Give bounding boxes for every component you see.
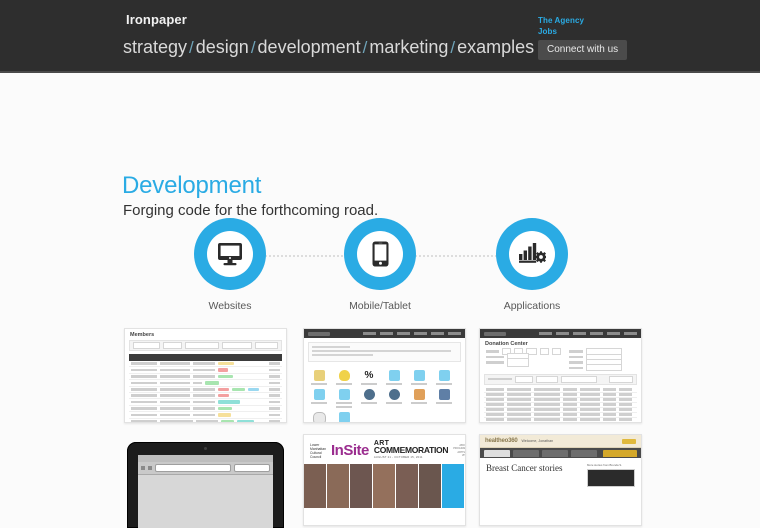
site-header: Ironpaper strategy/design/development/ma… — [0, 0, 760, 73]
service-item-mobile-tablet[interactable]: Mobile/Tablet — [325, 218, 435, 312]
smartphone-icon — [372, 241, 389, 267]
nav-item-development[interactable]: development — [258, 37, 361, 57]
back-arrow-icon[interactable] — [141, 466, 145, 470]
lmcc-logo: Lower Manhattan Cultural Council — [310, 443, 326, 459]
service-label: Applications — [477, 300, 587, 312]
thumbnail-insite-art-commemoration-site[interactable]: Lower Manhattan Cultural Council InSite … — [303, 434, 466, 526]
thumb-logo-pill — [308, 332, 330, 336]
signup-button[interactable] — [622, 439, 636, 444]
nav-tab-activity[interactable] — [484, 450, 510, 457]
forward-arrow-icon[interactable] — [148, 466, 152, 470]
healtheo360-heading: Breast Cancer stories — [486, 463, 562, 487]
thumb-logo-pill — [484, 332, 506, 336]
main-navigation: strategy/design/development/marketing/ex… — [123, 36, 534, 59]
url-input[interactable] — [155, 464, 231, 472]
service-circle — [496, 218, 568, 290]
nav-item-examples[interactable]: examples — [457, 37, 534, 57]
insite-title-line1: ART — [374, 440, 448, 447]
service-circle — [344, 218, 416, 290]
browser-address-bar — [138, 462, 273, 475]
brand-logo[interactable]: Ironpaper — [126, 12, 187, 27]
thumb-icon-grid: % — [304, 366, 465, 423]
service-label: Websites — [175, 300, 285, 312]
nav-separator: / — [448, 38, 457, 57]
nav-item-marketing[interactable]: marketing — [369, 37, 448, 57]
nav-tab-info[interactable] — [571, 450, 597, 457]
nav-tab-stories[interactable] — [513, 450, 539, 457]
connect-with-us-button[interactable]: Connect with us — [538, 40, 627, 60]
thumb-nav-items — [539, 332, 637, 335]
thumbnail-donation-center-admin[interactable]: Donation Center — [479, 328, 642, 423]
service-item-applications[interactable]: Applications — [477, 218, 587, 312]
thumb-pager — [484, 374, 637, 385]
healtheo360-nav — [480, 448, 641, 458]
insite-header: Lower Manhattan Cultural Council InSite … — [304, 435, 465, 464]
insite-title-block: ART COMMEMORATION AUGUST 21 - OCTOBER 15… — [374, 440, 448, 461]
tablet-screen — [138, 455, 273, 528]
insite-title-line2: COMMEMORATION — [374, 447, 448, 454]
service-label: Mobile/Tablet — [325, 300, 435, 312]
healtheo360-header: healtheo360 Welcome, Jonathan — [480, 435, 641, 448]
healtheo360-sidebar: More stories from Brenda S. — [587, 463, 635, 487]
thumb-table-rows — [125, 361, 286, 423]
nav-tab-support-groups[interactable] — [542, 450, 568, 457]
thumb-toolbar — [129, 340, 282, 351]
healtheo360-page: healtheo360 Welcome, Jonathan Breast Can… — [480, 435, 641, 525]
thumbnail-healtheo360-site[interactable]: healtheo360 Welcome, Jonathan Breast Can… — [479, 434, 642, 526]
sidebar-caption: More stories from Brenda S. — [587, 463, 635, 467]
nav-item-design[interactable]: design — [196, 37, 249, 57]
thumb-topbar — [480, 329, 641, 338]
insite-photo-strip — [304, 464, 465, 508]
nav-separator: / — [187, 38, 196, 57]
thumb-welcome-box — [308, 342, 461, 362]
insite-utility-nav: ABOUTPROGRAMSARTISTSVISIT — [453, 444, 466, 457]
thumbnail-members-admin-table[interactable]: Members — [124, 328, 287, 423]
bar-chart-gear-icon — [518, 241, 546, 267]
header-utility-links: The Agency Jobs Connect with us — [538, 16, 648, 60]
page-content: Development Forging code for the forthco… — [0, 73, 760, 400]
thumb-nav-items — [363, 332, 461, 335]
healtheo360-logo: healtheo360 — [485, 438, 517, 444]
tablet-device-frame — [127, 442, 284, 528]
nav-item-strategy[interactable]: strategy — [123, 37, 187, 57]
thumbnail-tablet-device-mockup[interactable] — [124, 436, 287, 528]
thumb-topbar — [304, 329, 465, 338]
browser-tab-row — [138, 455, 273, 462]
page-title: Development — [122, 172, 261, 200]
sidebar-video-thumb[interactable] — [587, 469, 635, 487]
nav-select-condition[interactable] — [603, 450, 637, 457]
link-jobs[interactable]: Jobs — [538, 27, 648, 38]
services-row: Websites Mobile/Tablet — [0, 218, 760, 323]
insite-page: Lower Manhattan Cultural Council InSite … — [304, 435, 465, 525]
insite-title-line3: AUGUST 21 - OCTOBER 15, 2011 — [374, 454, 448, 461]
thumb-filter-panel — [480, 349, 641, 374]
service-circle — [194, 218, 266, 290]
thumb-table-rows — [480, 388, 641, 423]
thumb-title: Members — [125, 329, 286, 340]
search-input[interactable] — [234, 464, 270, 472]
thumb-table-header — [129, 354, 282, 361]
nav-separator: / — [249, 38, 258, 57]
welcome-message: Welcome, Jonathan — [521, 439, 553, 443]
service-item-websites[interactable]: Websites — [175, 218, 285, 312]
insite-wordmark: InSite — [331, 442, 369, 459]
thumbnail-store-admin-dashboard[interactable]: % — [303, 328, 466, 423]
camera-dot-icon — [204, 447, 207, 450]
desktop-monitor-icon — [217, 242, 243, 266]
page-subtitle: Forging code for the forthcoming road. — [123, 202, 378, 219]
link-the-agency[interactable]: The Agency — [538, 16, 648, 27]
healtheo360-body: Breast Cancer stories More stories from … — [480, 458, 641, 492]
